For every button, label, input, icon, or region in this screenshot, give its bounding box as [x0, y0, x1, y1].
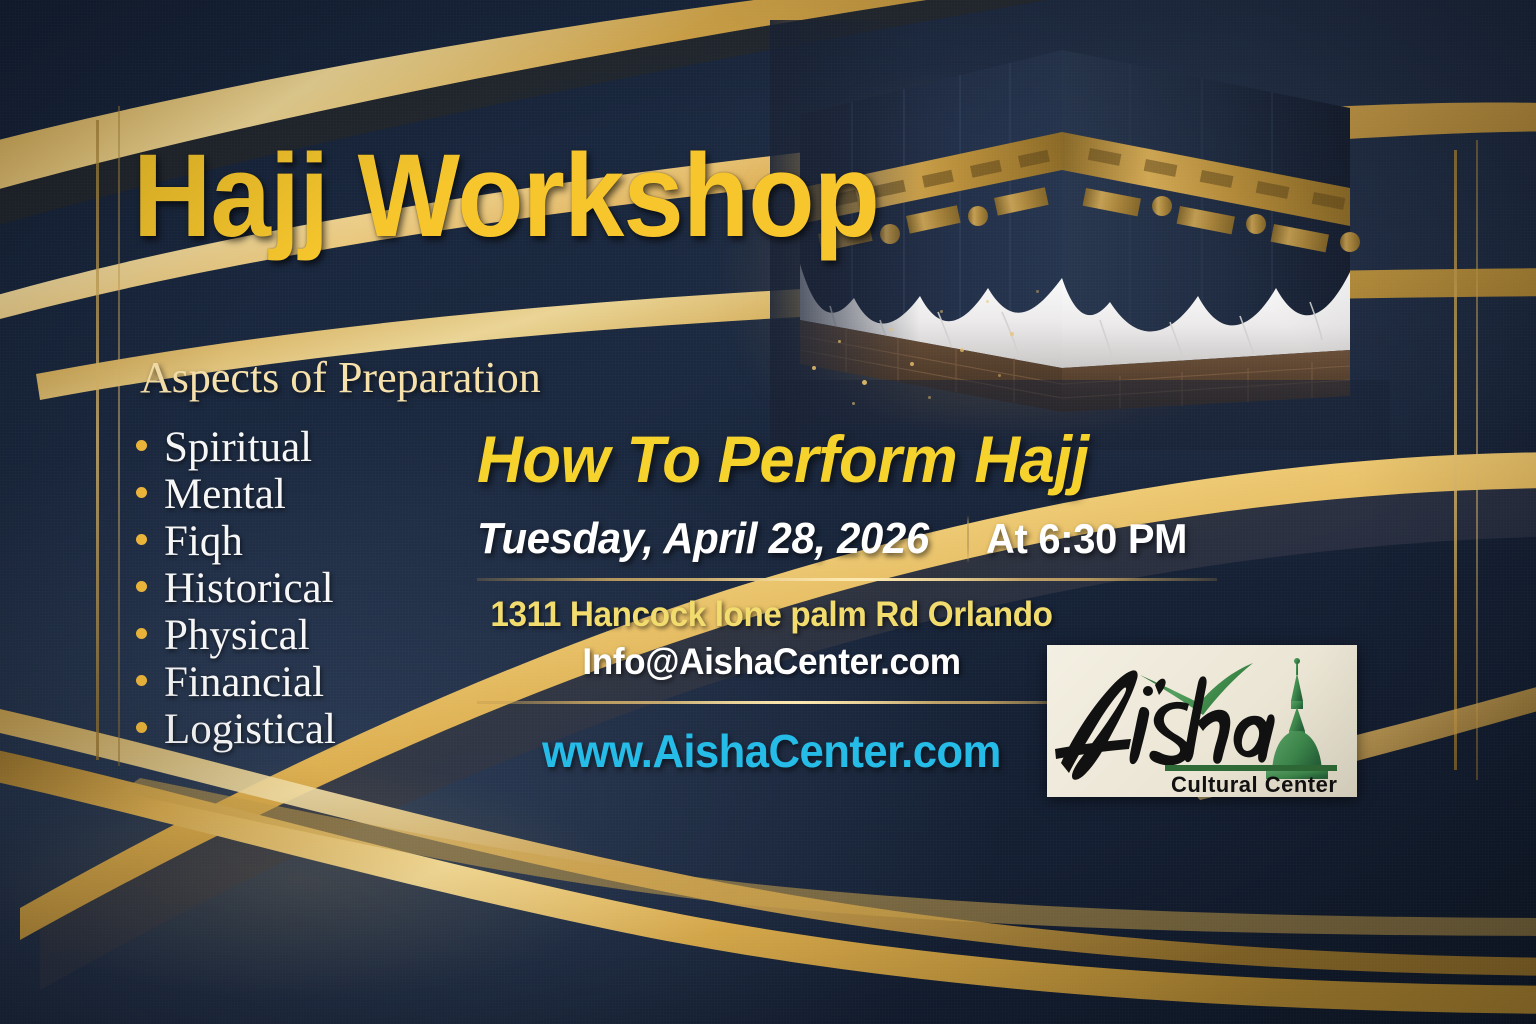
- bullet-icon: [136, 534, 147, 545]
- bullet-icon: [136, 440, 147, 451]
- list-item: Spiritual: [136, 424, 336, 471]
- list-item: Historical: [136, 565, 336, 612]
- bullet-icon: [136, 628, 147, 639]
- list-item: Physical: [136, 612, 336, 659]
- hajj-workshop-flyer: Hajj Workshop Aspects of Preparation Spi…: [0, 0, 1536, 1024]
- venue-address: 1311 Hancock lone palm Rd Orlando: [477, 595, 1066, 635]
- list-item-label: Historical: [164, 565, 334, 612]
- list-item-label: Mental: [164, 471, 286, 518]
- logo-underline: [1165, 765, 1337, 771]
- page-title: Hajj Workshop: [133, 136, 879, 256]
- event-time: At 6:30 PM: [986, 515, 1187, 563]
- website-url[interactable]: www.AishaCenter.com: [477, 724, 1066, 778]
- mosque-dome-icon: [1266, 658, 1328, 779]
- bullet-icon: [136, 581, 147, 592]
- logo-tagline: Cultural Center: [1171, 772, 1337, 797]
- bullet-icon: [136, 487, 147, 498]
- datetime-separator: [967, 515, 969, 563]
- gold-sparkle-particles: [800, 270, 1100, 420]
- event-date: Tuesday, April 28, 2026: [477, 514, 929, 564]
- list-item-label: Physical: [164, 612, 310, 659]
- gold-divider-bottom: [477, 701, 1097, 704]
- section-subtitle: Aspects of Preparation: [140, 352, 541, 403]
- gold-divider-top: [477, 578, 1217, 581]
- aspects-list: Spiritual Mental Fiqh Historical Physica…: [136, 424, 336, 753]
- list-item: Fiqh: [136, 518, 336, 565]
- bullet-icon: [136, 722, 147, 733]
- list-item-label: Fiqh: [164, 518, 243, 565]
- event-headline: How To Perform Hajj: [477, 425, 1207, 494]
- bullet-icon: [136, 675, 147, 686]
- list-item-label: Financial: [164, 659, 324, 706]
- list-item: Logistical: [136, 706, 336, 753]
- list-item: Financial: [136, 659, 336, 706]
- contact-email[interactable]: Info@AishaCenter.com: [477, 641, 1066, 683]
- list-item-label: Logistical: [164, 706, 336, 753]
- event-datetime: Tuesday, April 28, 2026 At 6:30 PM: [477, 514, 1237, 564]
- list-item: Mental: [136, 471, 336, 518]
- aisha-cultural-center-logo: Cultural Center: [1047, 645, 1357, 797]
- list-item-label: Spiritual: [164, 424, 312, 471]
